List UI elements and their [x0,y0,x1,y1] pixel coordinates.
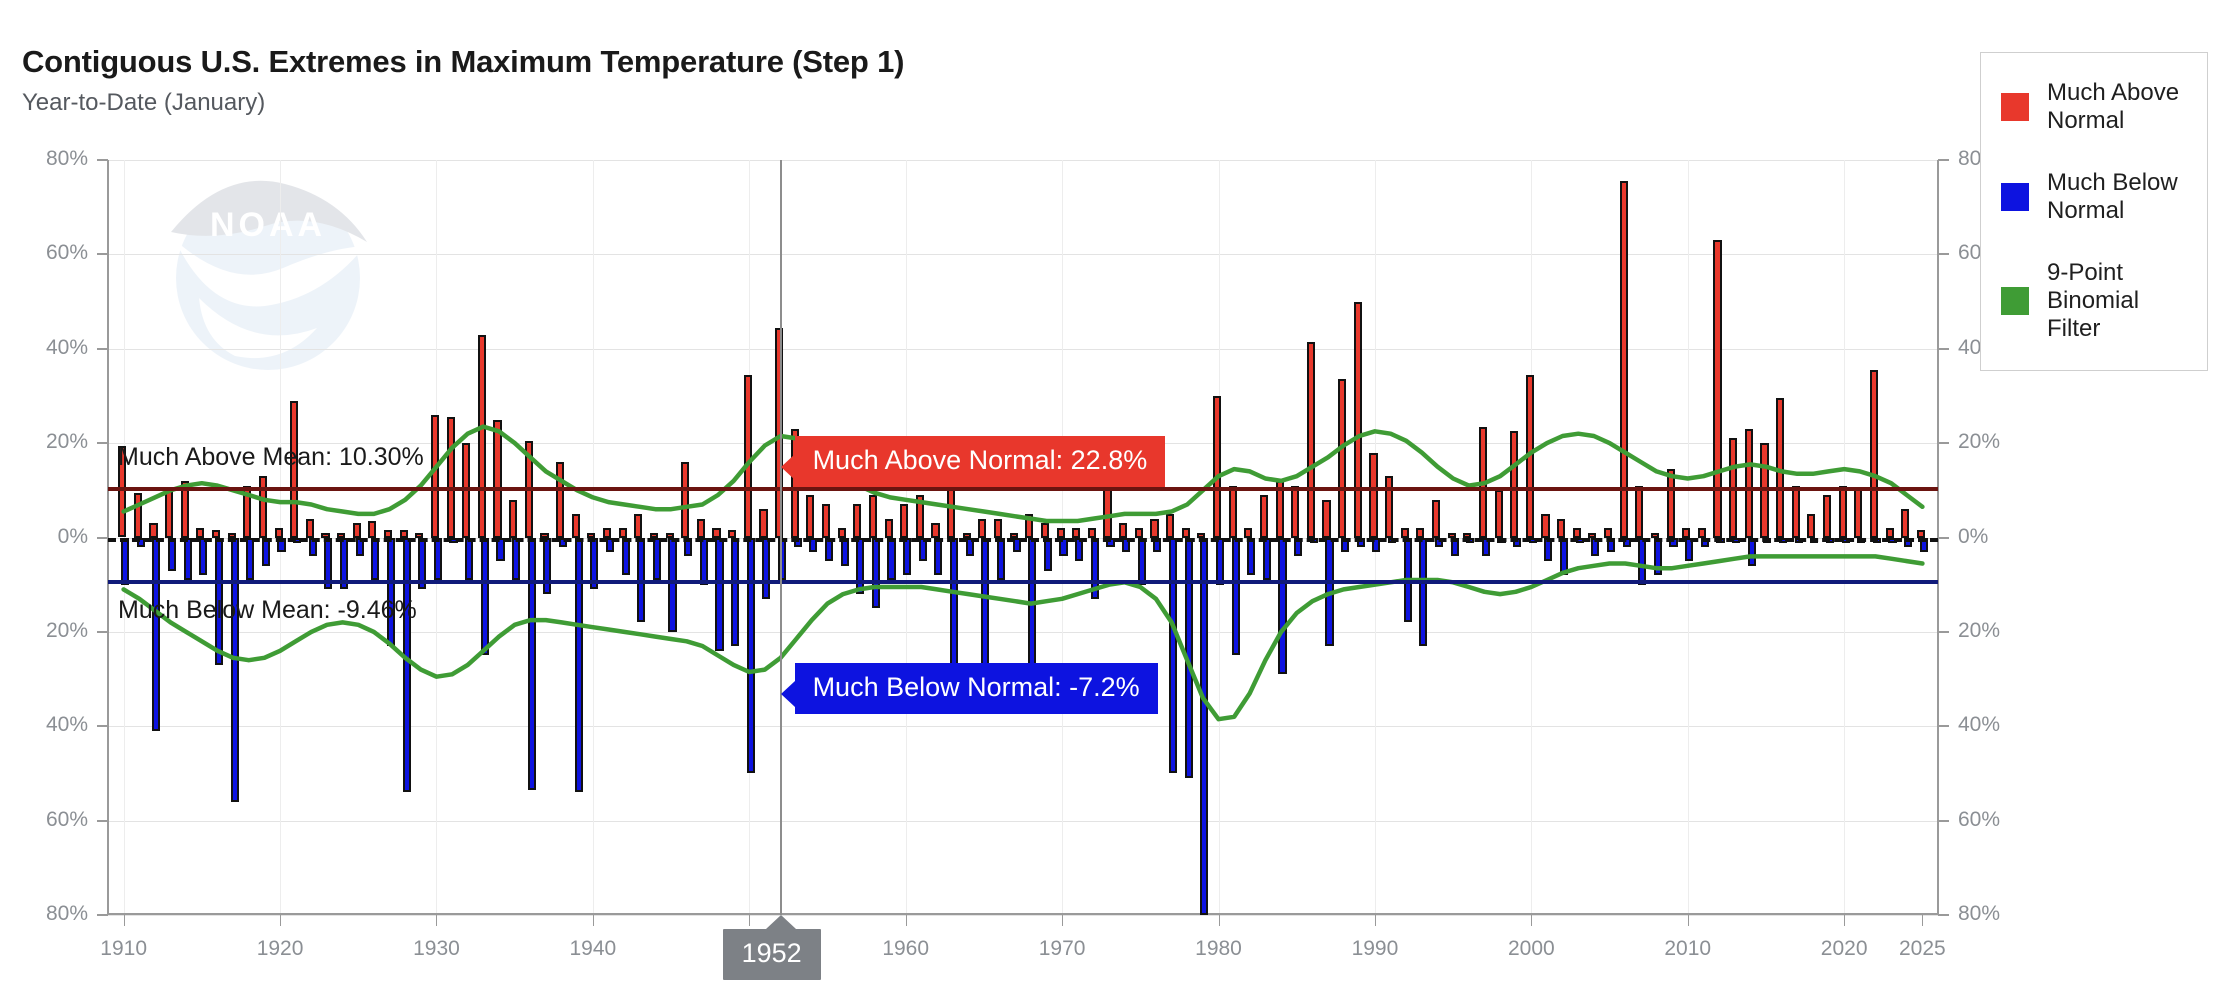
y-axis-tick-label-left: 0% [16,525,88,549]
mean-above-line [108,487,1938,491]
x-axis-tick-label: 1960 [882,937,929,961]
y-axis-tick-label-right: 80% [1958,902,2000,926]
y-axis-tick-mark-left [97,914,108,916]
legend-item-binomial-filter[interactable]: 9-Point Binomial Filter [1995,259,2193,343]
x-axis-tick-mark [436,915,437,926]
x-axis-tick-label: 2020 [1821,937,1868,961]
mean-below-line [108,580,1938,584]
y-axis-tick-label-left: 80% [16,902,88,926]
y-axis-tick-mark-right [1938,725,1949,727]
x-axis-tick-mark [1062,915,1063,926]
mean-above-label: Much Above Mean: 10.30% [118,443,424,472]
y-axis-tick-label-left: 80% [16,147,88,171]
y-axis-tick-mark-right [1938,348,1949,350]
cursor-badge-arrow [766,915,796,929]
y-axis-tick-mark-left [97,159,108,161]
chart-legend: Much Above Normal Much Below Normal 9-Po… [1980,52,2208,371]
x-axis-tick-label: 1920 [257,937,304,961]
y-axis-tick-label-right: 20% [1958,430,2000,454]
y-axis-tick-mark-right [1938,537,1949,539]
gridline [108,915,1938,916]
y-axis-tick-mark-left [97,537,108,539]
y-axis-tick-label-right: 40% [1958,713,2000,737]
legend-item-much-below-normal[interactable]: Much Below Normal [1995,169,2193,225]
tooltip-much-above-normal: Much Above Normal: 22.8% [795,436,1166,487]
y-axis-tick-mark-left [97,631,108,633]
x-axis-tick-mark [593,915,594,926]
tooltip-below-arrow [781,681,795,707]
x-axis-tick-label: 1940 [570,937,617,961]
x-axis-tick-mark [1688,915,1689,926]
plot-region[interactable]: NOAA Much Above Mean: 10.30% Much Below … [108,160,1938,915]
y-axis-tick-label-left: 60% [16,808,88,832]
y-axis-tick-mark-left [97,820,108,822]
y-axis-tick-mark-left [97,253,108,255]
x-axis-tick-mark [1844,915,1845,926]
x-axis-tick-mark [1219,915,1220,926]
x-cursor-badge[interactable]: 1952 [723,929,821,980]
y-axis-tick-label-right: 20% [1958,619,2000,643]
y-axis-tick-label-left: 60% [16,241,88,265]
x-axis-tick-label: 1930 [413,937,460,961]
mean-below-label: Much Below Mean: -9.46% [118,596,417,625]
legend-label-much-below-normal: Much Below Normal [2047,169,2193,225]
y-axis-tick-mark-right [1938,631,1949,633]
x-axis-tick-label: 1910 [100,937,147,961]
y-axis-tick-label-right: 60% [1958,808,2000,832]
y-axis-tick-label-right: 0% [1958,525,1988,549]
legend-label-binomial-filter: 9-Point Binomial Filter [2047,259,2193,343]
y-axis-tick-mark-right [1938,159,1949,161]
crosshair-line [780,160,782,915]
x-axis-tick-label: 1980 [1195,937,1242,961]
chart-area: NOAA Much Above Mean: 10.30% Much Below … [0,0,2218,998]
y-axis-tick-label-left: 40% [16,336,88,360]
x-axis-tick-mark [1922,915,1923,926]
legend-swatch-binomial-filter [2001,287,2029,315]
tooltip-above-arrow [781,454,795,480]
tooltip-much-below-normal: Much Below Normal: -7.2% [795,663,1158,714]
x-axis-tick-label: 2010 [1664,937,1711,961]
x-axis-tick-mark [124,915,125,926]
x-axis-tick-label: 2025 [1899,937,1946,961]
zero-line [108,538,1938,542]
y-axis-tick-mark-right [1938,820,1949,822]
x-axis-tick-label: 2000 [1508,937,1555,961]
x-axis-tick-label: 1990 [1352,937,1399,961]
x-axis-tick-label: 1970 [1039,937,1086,961]
y-axis-tick-label-left: 20% [16,619,88,643]
y-axis-tick-mark-left [97,442,108,444]
x-axis-tick-mark [906,915,907,926]
y-axis-tick-mark-right [1938,253,1949,255]
y-axis-tick-mark-left [97,725,108,727]
y-axis-tick-label-left: 20% [16,430,88,454]
legend-label-much-above-normal: Much Above Normal [2047,79,2193,135]
legend-item-much-above-normal[interactable]: Much Above Normal [1995,79,2193,135]
y-axis-tick-mark-right [1938,442,1949,444]
legend-swatch-much-above-normal [2001,93,2029,121]
y-axis-tick-label-left: 40% [16,713,88,737]
legend-swatch-much-below-normal [2001,183,2029,211]
y-axis-tick-mark-left [97,348,108,350]
x-axis-tick-mark [1375,915,1376,926]
x-axis-tick-mark [1531,915,1532,926]
x-axis-tick-mark [280,915,281,926]
x-axis-tick-mark [749,915,750,926]
y-axis-tick-mark-right [1938,914,1949,916]
